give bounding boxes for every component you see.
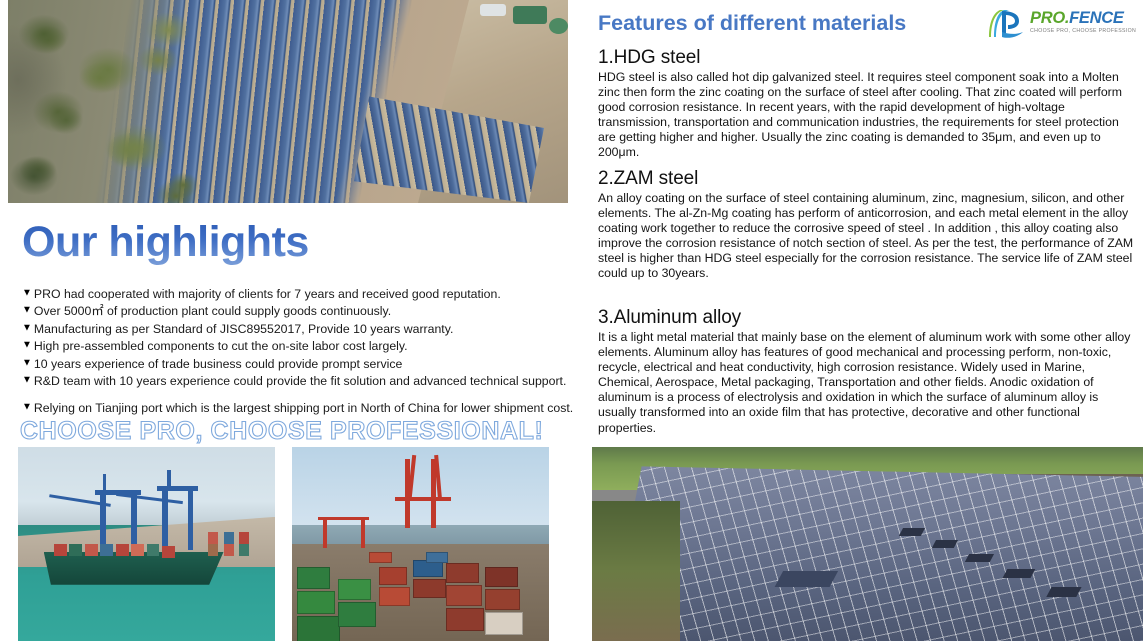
container-yard-photo bbox=[292, 447, 549, 641]
brand-wordmark: PRO.FENCE bbox=[1030, 9, 1124, 27]
container-box bbox=[85, 544, 98, 556]
brand-wordmark-fence: FENCE bbox=[1069, 9, 1123, 27]
container-box bbox=[297, 567, 330, 588]
crane-leg-icon bbox=[162, 488, 168, 550]
container-box bbox=[485, 567, 518, 586]
container-ship-icon bbox=[44, 552, 224, 585]
shadowed-panel bbox=[898, 528, 924, 536]
container-port-photo bbox=[18, 447, 275, 641]
container-box bbox=[116, 544, 129, 556]
section-zam-steel: 2.ZAM steel An alloy coating on the surf… bbox=[598, 168, 1138, 282]
container-box bbox=[147, 544, 160, 556]
crane-leg-icon bbox=[323, 517, 327, 548]
ground-solar-array-photo bbox=[592, 447, 1143, 641]
container-box bbox=[369, 552, 392, 564]
shadowed-panel bbox=[932, 540, 958, 548]
list-item: ▼ 10 years experience of trade business … bbox=[22, 356, 578, 372]
page-title-features: Features of different materials bbox=[598, 11, 906, 36]
container-box bbox=[297, 591, 335, 614]
page-title-our-highlights: Our highlights bbox=[22, 218, 309, 267]
container-box bbox=[54, 544, 67, 556]
list-item: ▼ PRO had cooperated with majority of cl… bbox=[22, 286, 578, 302]
crane-leg-icon bbox=[188, 488, 194, 550]
list-item: ▼ R&D team with 10 years experience coul… bbox=[22, 373, 578, 389]
pro-fence-wave-logo-icon bbox=[988, 8, 1026, 39]
shadowed-panel bbox=[1047, 587, 1082, 597]
crane-leg-icon bbox=[100, 492, 106, 550]
section-aluminum-alloy: 3.Aluminum alloy It is a light metal mat… bbox=[598, 307, 1138, 436]
container-box bbox=[446, 563, 479, 582]
left-column: Our highlights ▼ PRO had cooperated with… bbox=[0, 0, 582, 641]
container-box bbox=[224, 544, 234, 556]
triangle-bullet-icon: ▼ bbox=[22, 400, 32, 416]
container-box bbox=[208, 532, 218, 544]
container-box bbox=[379, 587, 409, 606]
section-body: HDG steel is also called hot dip galvani… bbox=[598, 70, 1138, 161]
container-box bbox=[100, 544, 113, 556]
container-box bbox=[426, 552, 449, 564]
highlights-list: ▼ PRO had cooperated with majority of cl… bbox=[22, 286, 578, 418]
brochure-page: Our highlights ▼ PRO had cooperated with… bbox=[0, 0, 1143, 641]
site-building-icon bbox=[480, 4, 506, 16]
brand-wordmark-pro: PRO. bbox=[1030, 9, 1069, 27]
container-box bbox=[239, 532, 249, 544]
container-box bbox=[413, 579, 446, 598]
container-box bbox=[446, 585, 481, 606]
list-item: ▼ Over 5000㎡ of production plant could s… bbox=[22, 303, 578, 319]
list-item-label: Manufacturing as per Standard of JISC895… bbox=[34, 321, 453, 337]
container-box bbox=[69, 544, 82, 556]
roadside-vegetation-region bbox=[592, 501, 680, 641]
section-body: An alloy coating on the surface of steel… bbox=[598, 191, 1138, 282]
container-box bbox=[297, 616, 340, 641]
container-box bbox=[224, 532, 234, 544]
container-box bbox=[338, 579, 371, 600]
aerial-solar-farm-photo bbox=[8, 0, 568, 203]
site-building-icon bbox=[513, 6, 547, 24]
section-body: It is a light metal material that mainly… bbox=[598, 330, 1138, 436]
container-box bbox=[446, 608, 484, 631]
site-tank-icon bbox=[549, 18, 568, 34]
sky-region bbox=[18, 447, 275, 525]
list-item-label: Relying on Tianjing port which is the la… bbox=[34, 400, 573, 416]
triangle-bullet-icon: ▼ bbox=[22, 373, 32, 389]
container-box bbox=[208, 544, 218, 556]
slogan-choose-pro: CHOOSE PRO, CHOOSE PROFESSIONAL! bbox=[20, 417, 543, 446]
right-column: Features of different materials PRO.FENC… bbox=[588, 0, 1143, 641]
container-box bbox=[338, 602, 376, 627]
list-item: ▼ High pre-assembled components to cut t… bbox=[22, 338, 578, 354]
section-heading: 1.HDG steel bbox=[598, 47, 1138, 69]
list-item-shipping-port: ▼ Relying on Tianjing port which is the … bbox=[22, 400, 578, 416]
container-box bbox=[485, 612, 523, 635]
list-item-label: R&D team with 10 years experience could … bbox=[34, 373, 567, 389]
section-heading: 2.ZAM steel bbox=[598, 168, 1138, 190]
crane-mast-icon bbox=[103, 474, 107, 493]
list-item-label: High pre-assembled components to cut the… bbox=[34, 338, 408, 354]
triangle-bullet-icon: ▼ bbox=[22, 338, 32, 354]
crane-mast-icon bbox=[167, 470, 171, 489]
list-item: ▼ Manufacturing as per Standard of JISC8… bbox=[22, 321, 578, 337]
crane-beam-icon bbox=[395, 497, 452, 501]
triangle-bullet-icon: ▼ bbox=[22, 286, 32, 302]
triangle-bullet-icon: ▼ bbox=[22, 355, 32, 371]
container-box bbox=[162, 546, 175, 558]
triangle-bullet-icon: ▼ bbox=[22, 320, 32, 336]
section-hdg-steel: 1.HDG steel HDG steel is also called hot… bbox=[598, 47, 1138, 161]
list-item-label: PRO had cooperated with majority of clie… bbox=[34, 286, 501, 302]
brand-logo: PRO.FENCE CHOOSE PRO, CHOOSE PROFESSION bbox=[988, 7, 1143, 41]
shadowed-panel bbox=[775, 571, 838, 587]
list-item-label: Over 5000㎡ of production plant could sup… bbox=[34, 303, 391, 319]
container-box bbox=[485, 589, 520, 610]
section-heading: 3.Aluminum alloy bbox=[598, 307, 1138, 329]
container-box bbox=[379, 567, 407, 585]
shadowed-panel bbox=[1003, 569, 1035, 578]
crane-leg-icon bbox=[131, 492, 137, 550]
crane-beam-icon bbox=[157, 486, 198, 491]
shadowed-panel bbox=[965, 554, 994, 562]
container-box bbox=[131, 544, 144, 556]
triangle-bullet-icon: ▼ bbox=[22, 303, 32, 319]
container-box bbox=[239, 544, 249, 556]
crane-leg-icon bbox=[361, 517, 365, 548]
list-item-label: 10 years experience of trade business co… bbox=[34, 356, 402, 372]
brand-tagline: CHOOSE PRO, CHOOSE PROFESSION bbox=[1030, 28, 1136, 34]
tree-canopy-region bbox=[8, 0, 208, 203]
